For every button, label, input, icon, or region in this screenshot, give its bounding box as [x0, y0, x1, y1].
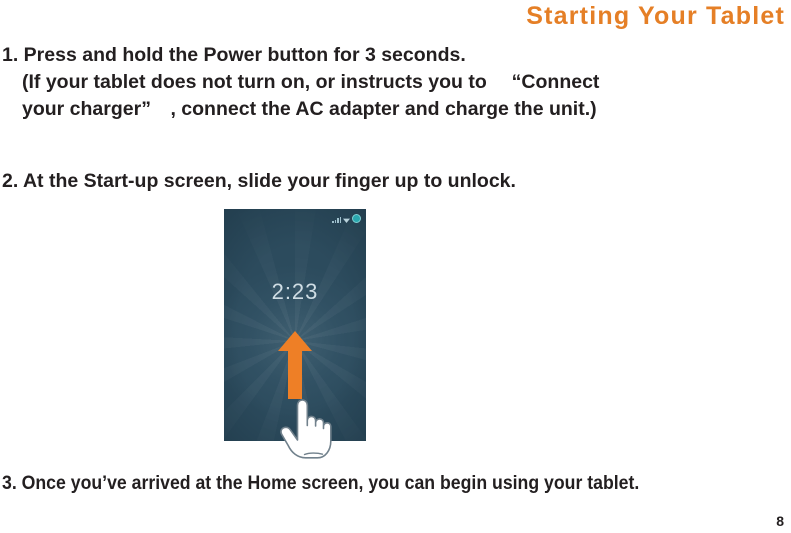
battery-circle-icon [352, 214, 361, 223]
instruction-step-3: 3. Once you’ve arrived at the Home scree… [2, 470, 639, 497]
status-bar [332, 212, 361, 223]
step-2-line-1: 2. At the Start-up screen, slide your fi… [2, 168, 516, 195]
pointing-hand-icon [277, 396, 333, 462]
instruction-step-1: 1. Press and hold the Power button for 3… [2, 42, 599, 123]
wifi-icon [343, 217, 350, 223]
step-1-line-1: 1. Press and hold the Power button for 3… [2, 42, 599, 69]
page-title: Starting Your Tablet [526, 2, 785, 31]
step-1-line-2: (If your tablet does not turn on, or ins… [2, 69, 599, 96]
page-number: 8 [776, 513, 784, 529]
step-1-line-3: your charger” , connect the AC adapter a… [2, 96, 599, 123]
step-3-line-1: 3. Once you’ve arrived at the Home scree… [2, 470, 639, 497]
instruction-step-2: 2. At the Start-up screen, slide your fi… [2, 168, 516, 195]
arrow-up-icon [278, 331, 312, 399]
lock-screen-clock: 2:23 [224, 279, 366, 305]
signal-bars-icon [332, 216, 341, 223]
